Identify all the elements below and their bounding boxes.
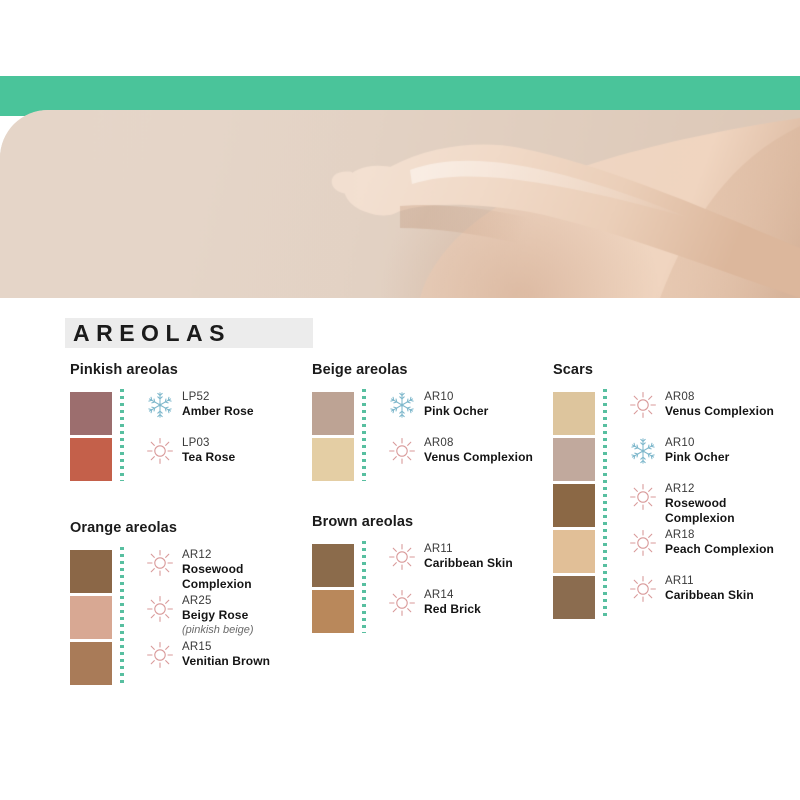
sun-icon	[146, 549, 174, 577]
page-title: AREOLAS	[65, 320, 231, 347]
pigment-row[interactable]: LP03Tea Rose	[146, 435, 305, 481]
sun-icon	[629, 483, 657, 511]
pigment-text: AR10Pink Ocher	[424, 389, 547, 419]
pigment-name: Amber Rose	[182, 404, 305, 419]
woman-torso-photo	[0, 110, 800, 298]
group-body: LP52Amber Rose LP03Tea Rose	[70, 389, 305, 484]
color-swatch[interactable]	[553, 576, 595, 619]
swatch-stack	[70, 389, 112, 484]
pigment-name: Venitian Brown	[182, 654, 310, 669]
swatch-stack	[70, 547, 112, 688]
color-swatch[interactable]	[553, 392, 595, 435]
pigment-text: AR08Venus Complexion	[665, 389, 793, 419]
pigment-row[interactable]: AR10Pink Ocher	[388, 389, 547, 435]
pigment-code: AR18	[665, 528, 793, 542]
sun-icon	[388, 543, 416, 571]
pigment-text: AR12Rosewood Complexion	[665, 481, 793, 525]
pigment-name: Venus Complexion	[424, 450, 547, 465]
sun-icon	[629, 391, 657, 419]
pigment-name: Red Brick	[424, 602, 547, 617]
pigment-row[interactable]: AR12Rosewood Complexion	[146, 547, 310, 593]
color-swatch[interactable]	[312, 392, 354, 435]
pigment-code: AR14	[424, 588, 547, 602]
pigment-name: Peach Complexion	[665, 542, 793, 557]
pigment-list: AR10Pink Ocher AR08Venus Complexion	[366, 389, 547, 481]
color-swatch[interactable]	[70, 392, 112, 435]
group-title: Scars	[553, 362, 793, 378]
pigment-text: AR10Pink Ocher	[665, 435, 793, 465]
pigment-note: (pinkish beige)	[182, 623, 310, 637]
snowflake-icon	[388, 391, 416, 419]
color-swatch[interactable]	[312, 438, 354, 481]
pigment-list: AR11Caribbean Skin AR14Red Brick	[366, 541, 547, 633]
group-title: Brown areolas	[312, 514, 547, 530]
sun-icon	[388, 437, 416, 465]
pigment-name: Pink Ocher	[424, 404, 547, 419]
pigment-code: AR15	[182, 640, 310, 654]
color-swatch[interactable]	[312, 544, 354, 587]
pigment-row[interactable]: AR11Caribbean Skin	[388, 541, 547, 587]
pigment-code: LP03	[182, 436, 305, 450]
group-body: AR08Venus Complexion AR10Pink Ocher AR12…	[553, 389, 793, 622]
pigment-row[interactable]: AR08Venus Complexion	[388, 435, 547, 481]
sun-icon	[146, 595, 174, 623]
pigment-code: AR10	[665, 436, 793, 450]
pigment-name: Caribbean Skin	[665, 588, 793, 603]
group-pinkish-areolas: Pinkish areolas LP52Amber Rose LP03Tea R…	[70, 362, 305, 484]
pigment-code: AR08	[665, 390, 793, 404]
pigment-row[interactable]: AR12Rosewood Complexion	[629, 481, 793, 527]
pigment-text: LP52Amber Rose	[182, 389, 305, 419]
pigment-name: Venus Complexion	[665, 404, 793, 419]
pigment-row[interactable]: AR08Venus Complexion	[629, 389, 793, 435]
sun-icon	[388, 589, 416, 617]
snowflake-icon	[629, 437, 657, 465]
pigment-name: Caribbean Skin	[424, 556, 547, 571]
swatch-stack	[312, 541, 354, 636]
pigment-list: AR08Venus Complexion AR10Pink Ocher AR12…	[607, 389, 793, 619]
pigment-code: AR12	[665, 482, 793, 496]
color-swatch[interactable]	[70, 550, 112, 593]
color-swatch[interactable]	[553, 484, 595, 527]
pigment-row[interactable]: AR10Pink Ocher	[629, 435, 793, 481]
group-orange-areolas: Orange areolas AR12Rosewood Complexion A…	[70, 520, 310, 688]
pigment-text: AR15Venitian Brown	[182, 639, 310, 669]
pigment-text: AR08Venus Complexion	[424, 435, 547, 465]
snowflake-icon	[146, 391, 174, 419]
pigment-code: AR12	[182, 548, 310, 562]
color-swatch[interactable]	[312, 590, 354, 633]
pigment-row[interactable]: AR15Venitian Brown	[146, 639, 310, 685]
pigment-text: LP03Tea Rose	[182, 435, 305, 465]
page-title-highlight: AREOLAS	[65, 318, 313, 348]
sun-icon	[146, 437, 174, 465]
pigment-name: Pink Ocher	[665, 450, 793, 465]
group-body: AR10Pink Ocher AR08Venus Complexion	[312, 389, 547, 484]
pigment-name: Rosewood Complexion	[182, 562, 310, 591]
pigment-text: AR11Caribbean Skin	[665, 573, 793, 603]
pigment-name: Tea Rose	[182, 450, 305, 465]
group-body: AR12Rosewood Complexion AR25Beigy Rose(p…	[70, 547, 310, 688]
sun-icon	[629, 575, 657, 603]
group-title: Orange areolas	[70, 520, 310, 536]
color-swatch[interactable]	[70, 642, 112, 685]
group-body: AR11Caribbean Skin AR14Red Brick	[312, 541, 547, 636]
pigment-name: Beigy Rose	[182, 608, 310, 623]
group-brown-areolas: Brown areolas AR11Caribbean Skin AR14Red…	[312, 514, 547, 636]
sun-icon	[146, 641, 174, 669]
pigment-row[interactable]: LP52Amber Rose	[146, 389, 305, 435]
color-swatch[interactable]	[553, 438, 595, 481]
swatch-stack	[553, 389, 595, 622]
color-swatch[interactable]	[70, 596, 112, 639]
color-swatch[interactable]	[553, 530, 595, 573]
group-beige-areolas: Beige areolas AR10Pink Ocher AR08Venus C…	[312, 362, 547, 484]
group-title: Beige areolas	[312, 362, 547, 378]
pigment-code: AR08	[424, 436, 547, 450]
pigment-code: AR11	[424, 542, 547, 556]
pigment-text: AR25Beigy Rose(pinkish beige)	[182, 593, 310, 637]
hero-photo-panel	[0, 110, 800, 298]
pigment-row[interactable]: AR18Peach Complexion	[629, 527, 793, 573]
pigment-row[interactable]: AR25Beigy Rose(pinkish beige)	[146, 593, 310, 639]
group-title: Pinkish areolas	[70, 362, 305, 378]
color-swatch[interactable]	[70, 438, 112, 481]
pigment-code: AR11	[665, 574, 793, 588]
pigment-code: AR25	[182, 594, 310, 608]
pigment-text: AR18Peach Complexion	[665, 527, 793, 557]
pigment-list: AR12Rosewood Complexion AR25Beigy Rose(p…	[124, 547, 310, 685]
pigment-name: Rosewood Complexion	[665, 496, 793, 525]
pigment-code: AR10	[424, 390, 547, 404]
pigment-row[interactable]: AR14Red Brick	[388, 587, 547, 633]
pigment-text: AR11Caribbean Skin	[424, 541, 547, 571]
pigment-row[interactable]: AR11Caribbean Skin	[629, 573, 793, 619]
pigment-code: LP52	[182, 390, 305, 404]
swatch-stack	[312, 389, 354, 484]
hero-banner	[0, 0, 800, 300]
pigment-text: AR14Red Brick	[424, 587, 547, 617]
pigment-text: AR12Rosewood Complexion	[182, 547, 310, 591]
pigment-list: LP52Amber Rose LP03Tea Rose	[124, 389, 305, 481]
group-scars: Scars AR08Venus Complexion AR10Pink Oche…	[553, 362, 793, 622]
sun-icon	[629, 529, 657, 557]
